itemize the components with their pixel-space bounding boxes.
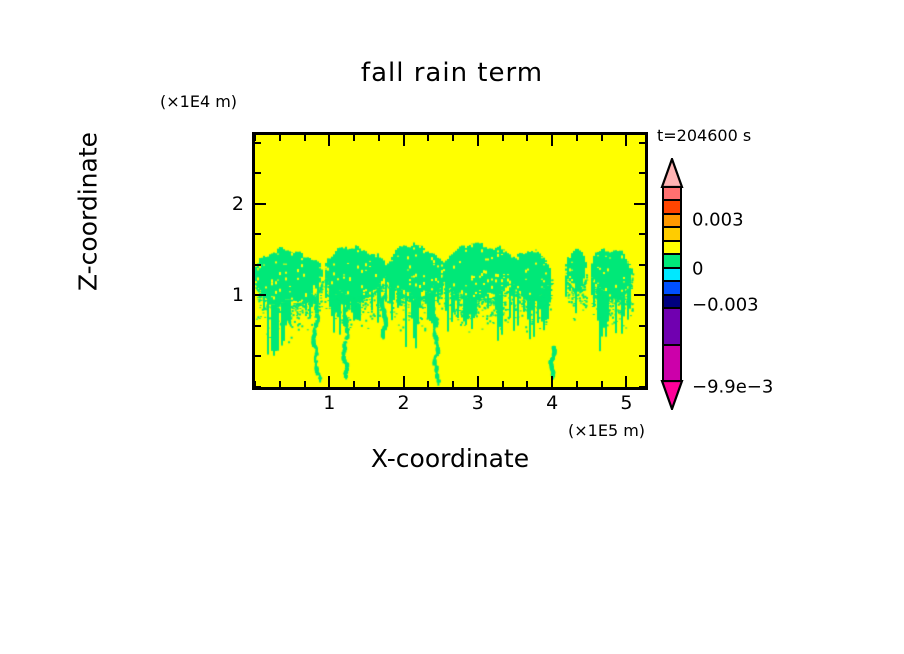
colorbar-label: −9.9e−3 [692,376,773,397]
y-minor-tick [255,264,261,266]
x-tick-label: 3 [472,392,484,414]
colorbar-band [664,215,680,228]
x-major-tick-top [403,135,405,146]
x-minor-tick-top [526,135,528,141]
colorbar-top-arrow-icon [659,158,685,188]
x-major-tick-top [328,135,330,146]
x-axis-unit-label: (×1E5 m) [568,421,645,440]
x-major-tick [328,376,330,387]
y-minor-tick [255,233,261,235]
x-minor-tick-top [502,135,504,141]
colorbar-band [664,242,680,255]
colorbar-label: 0 [692,259,703,280]
colorbar-label: −0.003 [692,294,759,315]
x-major-tick [477,376,479,387]
y-minor-tick [255,142,261,144]
colorbar-band [664,269,680,282]
colorbar-band [664,296,680,309]
y-minor-tick-right [639,355,645,357]
x-minor-tick-top [353,135,355,141]
colorbar-band [664,255,680,268]
x-minor-tick-top [452,135,454,141]
x-minor-tick-top [427,135,429,141]
y-axis-title: Z-coordinate [74,62,103,362]
colorbar-label: 0.003 [692,210,744,231]
y-tick-label: 2 [232,193,244,215]
plot-area [252,132,648,390]
y-major-tick-right [634,294,645,296]
x-minor-tick [601,381,603,387]
page-title: fall rain term [0,58,904,88]
x-minor-tick [502,381,504,387]
x-major-tick [403,376,405,387]
colorbar-band [664,188,680,201]
y-minor-tick-right [639,264,645,266]
x-tick-label: 4 [546,392,558,414]
y-minor-tick [255,386,261,388]
figure-canvas: fall rain term (×1E4 m) (×1E5 m) Z-coord… [0,0,904,654]
x-minor-tick-top [279,135,281,141]
x-major-tick-top [625,135,627,146]
y-tick-label: 1 [232,284,244,306]
y-minor-tick [255,172,261,174]
y-minor-tick-right [639,386,645,388]
x-minor-tick [526,381,528,387]
x-minor-tick-top [601,135,603,141]
x-minor-tick [576,381,578,387]
y-minor-tick-right [639,325,645,327]
x-minor-tick [279,381,281,387]
x-minor-tick-top [378,135,380,141]
y-minor-tick [255,355,261,357]
x-minor-tick-top [304,135,306,141]
colorbar [659,158,685,410]
x-major-tick [551,376,553,387]
colorbar-band [664,346,680,380]
x-minor-tick [378,381,380,387]
heatmap-field [255,135,645,387]
y-minor-tick-right [639,142,645,144]
y-minor-tick [255,325,261,327]
x-axis-title: X-coordinate [250,444,650,473]
x-tick-label: 2 [398,392,410,414]
x-minor-tick-top [254,135,256,141]
colorbar-band [664,282,680,295]
x-tick-label: 5 [620,392,632,414]
x-major-tick [625,376,627,387]
colorbar-band [664,201,680,214]
y-major-tick [255,294,266,296]
x-minor-tick [353,381,355,387]
x-major-tick-top [477,135,479,146]
colorbar-band [664,309,680,345]
x-minor-tick [427,381,429,387]
x-minor-tick [304,381,306,387]
y-major-tick-right [634,203,645,205]
y-major-tick [255,203,266,205]
y-minor-tick-right [639,233,645,235]
x-minor-tick [452,381,454,387]
x-tick-label: 1 [323,392,335,414]
colorbar-bottom-arrow-icon [659,380,685,410]
colorbar-bands [662,186,682,382]
y-minor-tick-right [639,172,645,174]
colorbar-band [664,228,680,241]
y-axis-tick-labels: 12 [200,0,244,654]
timestamp-annotation: t=204600 s [657,126,751,145]
x-minor-tick-top [576,135,578,141]
x-major-tick-top [551,135,553,146]
